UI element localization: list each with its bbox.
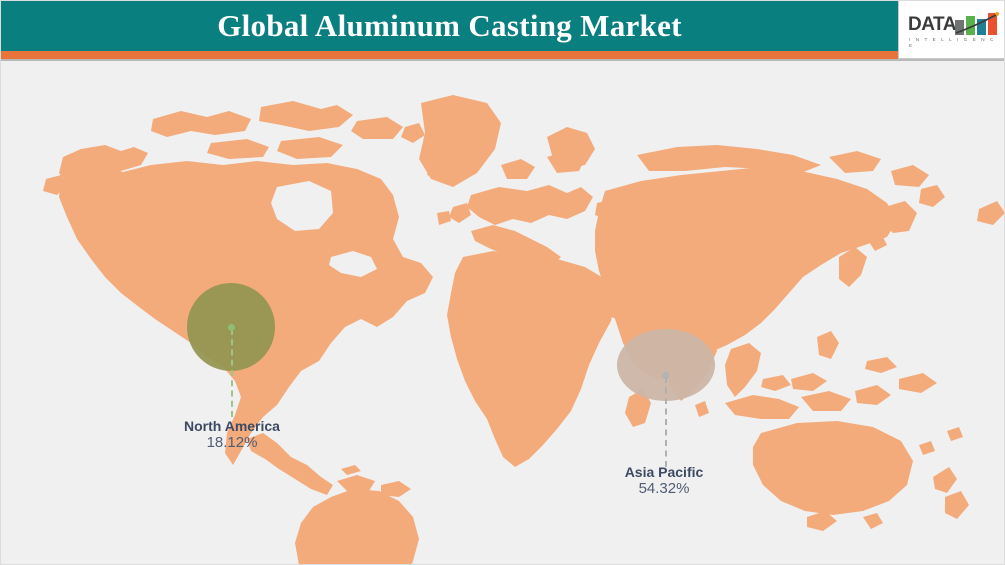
market-share-map-slide: Global Aluminum Casting Market DATA I N … [0, 0, 1005, 565]
marker-dot-asia-pacific [662, 372, 669, 379]
world-map: North America 18.12% Asia Pacific 54.32% [1, 61, 1005, 565]
brand-logo: DATA I N T E L L I G E N C E [898, 1, 1005, 59]
region-name-asia-pacific: Asia Pacific [564, 464, 764, 480]
logo-wordmark: DATA [908, 15, 956, 34]
logo-bar-chart-icon [955, 13, 1000, 37]
callout-north-america: North America 18.12% [132, 418, 332, 452]
leader-line-asia-pacific [665, 377, 667, 467]
logo-inner: DATA I N T E L L I G E N C E [908, 13, 1000, 49]
region-value-asia-pacific: 54.32% [564, 480, 764, 498]
world-map-landmass [1, 61, 1005, 565]
page-title: Global Aluminum Casting Market [1, 1, 898, 51]
logo-trend-arrow-icon [955, 13, 1000, 37]
region-name-north-america: North America [132, 418, 332, 434]
callout-asia-pacific: Asia Pacific 54.32% [564, 464, 764, 498]
logo-tagline: I N T E L L I G E N C E [909, 37, 1000, 49]
region-value-north-america: 18.12% [132, 434, 332, 452]
leader-line-north-america [231, 329, 233, 417]
header-accent-rule [1, 51, 1005, 59]
marker-dot-north-america [228, 324, 235, 331]
